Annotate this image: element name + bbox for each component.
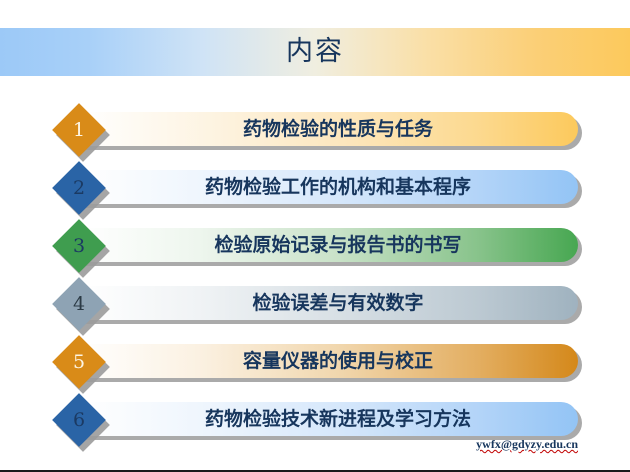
item-label: 药物检验工作的机构和基本程序 — [108, 170, 568, 204]
page-title: 内容 — [0, 28, 630, 76]
item-label: 检验原始记录与报告书的书写 — [108, 228, 568, 262]
slide-canvas: 内容 1 药物检验的性质与任务 2 药物检验工作的机构和基本程序 3 检验原始记… — [0, 0, 630, 472]
item-number: 2 — [60, 169, 98, 207]
item-label: 药物检验的性质与任务 — [108, 112, 568, 146]
agenda-item-1[interactable]: 1 药物检验的性质与任务 — [48, 104, 582, 156]
agenda-item-4[interactable]: 4 检验误差与有效数字 — [48, 278, 582, 330]
agenda-item-3[interactable]: 3 检验原始记录与报告书的书写 — [48, 220, 582, 272]
item-label: 药物检验技术新进程及学习方法 — [108, 402, 568, 436]
item-number: 6 — [60, 401, 98, 439]
item-number: 4 — [60, 285, 98, 323]
agenda-item-2[interactable]: 2 药物检验工作的机构和基本程序 — [48, 162, 582, 214]
email-watermark: ywfx@gdyzy.edu.cn — [476, 437, 578, 454]
item-number: 5 — [60, 343, 98, 381]
item-label: 容量仪器的使用与校正 — [108, 344, 568, 378]
title-banner: 内容 — [0, 28, 630, 76]
item-label: 检验误差与有效数字 — [108, 286, 568, 320]
item-number: 1 — [60, 111, 98, 149]
item-number: 3 — [60, 227, 98, 265]
agenda-item-5[interactable]: 5 容量仪器的使用与校正 — [48, 336, 582, 388]
